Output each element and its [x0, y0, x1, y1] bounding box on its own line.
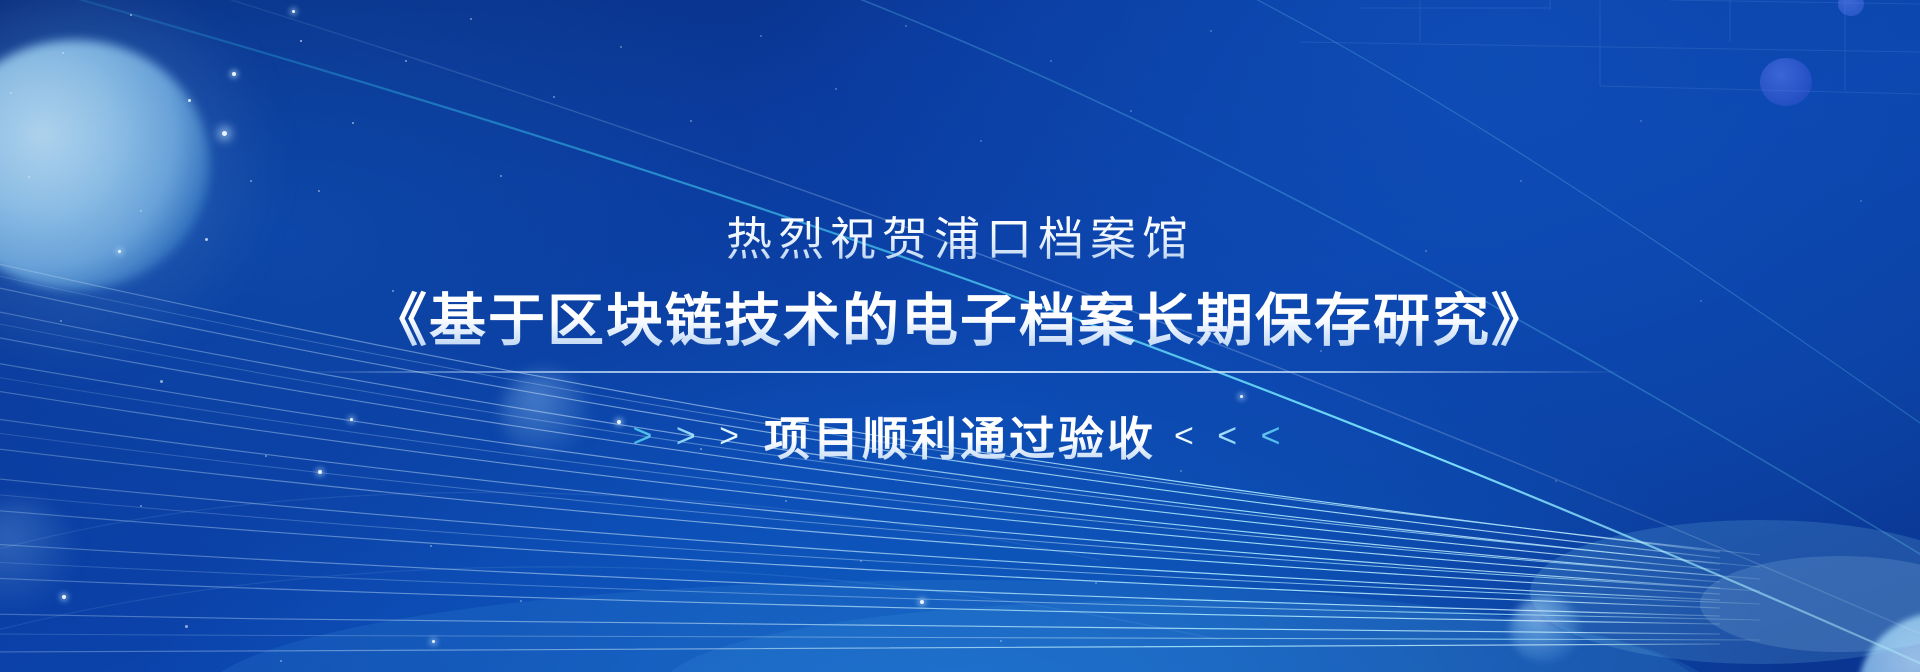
chevron-right-icon: > > > [633, 419, 746, 453]
status-text: 项目顺利通过验收 [764, 403, 1156, 469]
celebration-banner: 热烈祝贺浦口档案馆 《基于区块链技术的电子档案长期保存研究》 > > > 项目顺… [0, 0, 1920, 672]
chevron-left-icon: < < < [1174, 419, 1287, 453]
status-line: > > > 项目顺利通过验收 < < < [633, 403, 1288, 469]
project-title-wrap: 《基于区块链技术的电子档案长期保存研究》 [370, 275, 1550, 357]
project-title-text: 《基于区块链技术的电子档案长期保存研究》 [370, 275, 1550, 357]
banner-text-block: 热烈祝贺浦口档案馆 《基于区块链技术的电子档案长期保存研究》 > > > 项目顺… [0, 0, 1920, 672]
headline-text: 热烈祝贺浦口档案馆 [726, 203, 1194, 269]
divider-line [295, 371, 1625, 373]
